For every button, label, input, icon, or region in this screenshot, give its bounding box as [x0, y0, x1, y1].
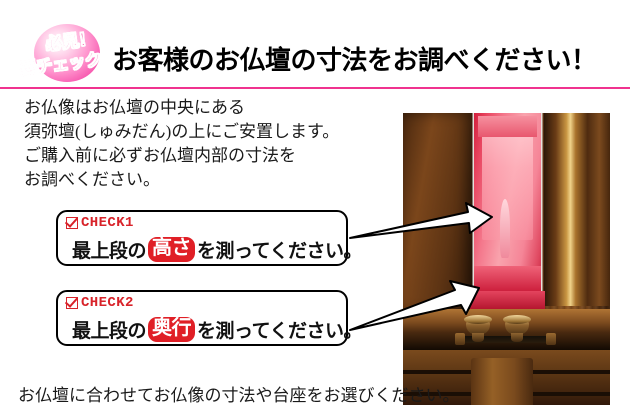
check-tag-label-1: CHECK1 [81, 216, 134, 230]
intro-line-3: ご購入前に必ずお仏壇内部の寸法を [24, 144, 384, 168]
check-box-height: CHECK1 最上段の 高さ を測ってください。 [56, 210, 348, 266]
check-suffix-2: を測ってください。 [197, 316, 362, 343]
statue-canopy [478, 116, 536, 138]
altar-photo [403, 113, 610, 405]
check-mark-icon [66, 297, 78, 309]
intro-line-4: お調べください。 [24, 168, 384, 192]
pink-divider-rule [0, 87, 630, 89]
cabinet-right-pillar [544, 113, 610, 306]
check-keyword-1: 高さ [148, 237, 195, 262]
page-title: お客様のお仏壇の寸法をお調べください！ [112, 40, 597, 77]
cabinet-left-wall [403, 113, 473, 312]
check-prefix-1: 最上段の [72, 236, 146, 263]
pedestal-base-step [470, 291, 544, 309]
cup-foot [472, 333, 484, 342]
check-prefix-2: 最上段の [72, 316, 146, 343]
intro-line-2: 須弥壇(しゅみだん)の上にご安置します。 [24, 120, 384, 144]
check-keyword-2: 奥行 [148, 317, 195, 342]
tray-end-right [546, 333, 556, 345]
header-banner: 必見！ 要チェック お客様のお仏壇の寸法をお調べください！ [0, 0, 630, 88]
check-tag-1: CHECK1 [66, 216, 134, 230]
cup-foot [511, 333, 523, 342]
offering-cup-left [463, 313, 493, 343]
highlighted-statue-region [474, 113, 540, 309]
offering-cup-right [502, 313, 532, 343]
lower-round-pedestal [471, 358, 533, 405]
check-mark-icon [66, 217, 78, 229]
check-sentence-2: 最上段の 奥行 を測ってください。 [72, 316, 362, 343]
cup-rim [464, 315, 492, 324]
check-sentence-1: 最上段の 高さ を測ってください。 [72, 236, 362, 263]
footer-note: お仏壇に合わせてお仏像の寸法や台座をお選びください。 [18, 381, 460, 406]
intro-paragraph: お仏像はお仏壇の中央にある 須弥壇(しゅみだん)の上にご安置します。 ご購入前に… [24, 96, 384, 192]
buddha-figure [500, 199, 511, 258]
info-graphic-page: 必見！ 要チェック お客様のお仏壇の寸法をお調べください！ お仏像はお仏壇の中央… [0, 0, 630, 420]
check-tag-2: CHECK2 [66, 296, 134, 310]
check-suffix-1: を測ってください。 [197, 236, 362, 263]
intro-line-1: お仏像はお仏壇の中央にある [24, 96, 384, 120]
check-box-depth: CHECK2 最上段の 奥行 を測ってください。 [56, 290, 348, 346]
check-tag-label-2: CHECK2 [81, 296, 134, 310]
must-see-badge: 必見！ 要チェック [18, 24, 114, 82]
